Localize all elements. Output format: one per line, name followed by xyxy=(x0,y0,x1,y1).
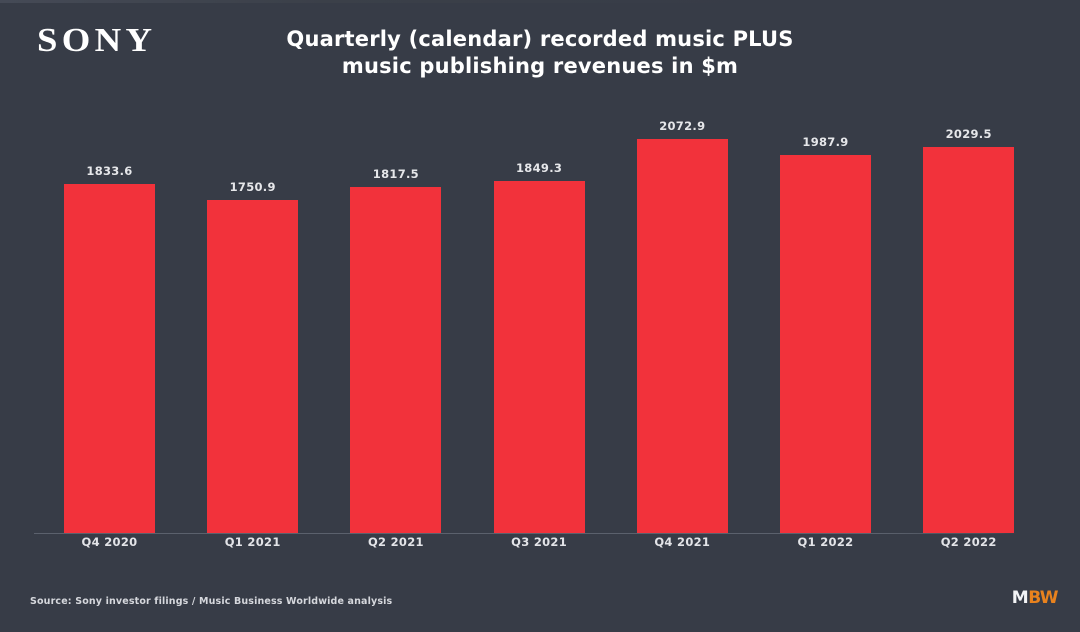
bar[interactable] xyxy=(207,200,298,533)
x-axis-label: Q1 2021 xyxy=(207,535,298,549)
x-axis-label: Q2 2021 xyxy=(350,535,441,549)
bar-group: 1833.6 xyxy=(64,105,155,533)
bar[interactable] xyxy=(637,139,728,533)
x-axis-label: Q4 2021 xyxy=(637,535,728,549)
bar-value-label: 1750.9 xyxy=(207,180,298,194)
bar[interactable] xyxy=(923,147,1014,533)
bar[interactable] xyxy=(494,181,585,533)
x-axis-label: Q2 2022 xyxy=(923,535,1014,549)
bar-chart-plot-area: 1833.61750.91817.51849.32072.91987.92029… xyxy=(0,105,1080,535)
bar[interactable] xyxy=(350,187,441,533)
chart-slide: SONY Quarterly (calendar) recorded music… xyxy=(0,0,1080,632)
page-title: Quarterly (calendar) recorded music PLUS… xyxy=(220,26,860,80)
mbw-logo-letter-m: M xyxy=(1012,588,1028,608)
bar-group: 2072.9 xyxy=(637,105,728,533)
bar-value-label: 2029.5 xyxy=(923,127,1014,141)
slide-footer: Source: Sony investor filings / Music Bu… xyxy=(0,560,1080,632)
page-title-line-1: Quarterly (calendar) recorded music PLUS xyxy=(286,27,793,51)
bar-group: 2029.5 xyxy=(923,105,1014,533)
x-axis-label: Q3 2021 xyxy=(494,535,585,549)
source-note: Source: Sony investor filings / Music Bu… xyxy=(30,596,392,607)
bar[interactable] xyxy=(64,184,155,533)
slide-header: SONY Quarterly (calendar) recorded music… xyxy=(0,0,1080,105)
x-axis-line xyxy=(34,533,1018,534)
bar-value-label: 2072.9 xyxy=(637,119,728,133)
mbw-logo: MBW xyxy=(1012,589,1058,608)
x-axis-category-labels: Q4 2020Q1 2021Q2 2021Q3 2021Q4 2021Q1 20… xyxy=(0,535,1080,559)
bar-group: 1750.9 xyxy=(207,105,298,533)
bar-series: 1833.61750.91817.51849.32072.91987.92029… xyxy=(0,105,1080,533)
bar-value-label: 1987.9 xyxy=(780,135,871,149)
bar-value-label: 1817.5 xyxy=(350,167,441,181)
x-axis-label: Q4 2020 xyxy=(64,535,155,549)
x-axis-label: Q1 2022 xyxy=(780,535,871,549)
bar-group: 1987.9 xyxy=(780,105,871,533)
bar-value-label: 1833.6 xyxy=(64,164,155,178)
bar[interactable] xyxy=(780,155,871,533)
mbw-logo-letters-bw: BW xyxy=(1028,588,1058,608)
bar-value-label: 1849.3 xyxy=(494,161,585,175)
bar-group: 1817.5 xyxy=(350,105,441,533)
bar-group: 1849.3 xyxy=(494,105,585,533)
page-title-line-2: music publishing revenues in $m xyxy=(220,53,860,80)
sony-logo: SONY xyxy=(37,22,156,60)
